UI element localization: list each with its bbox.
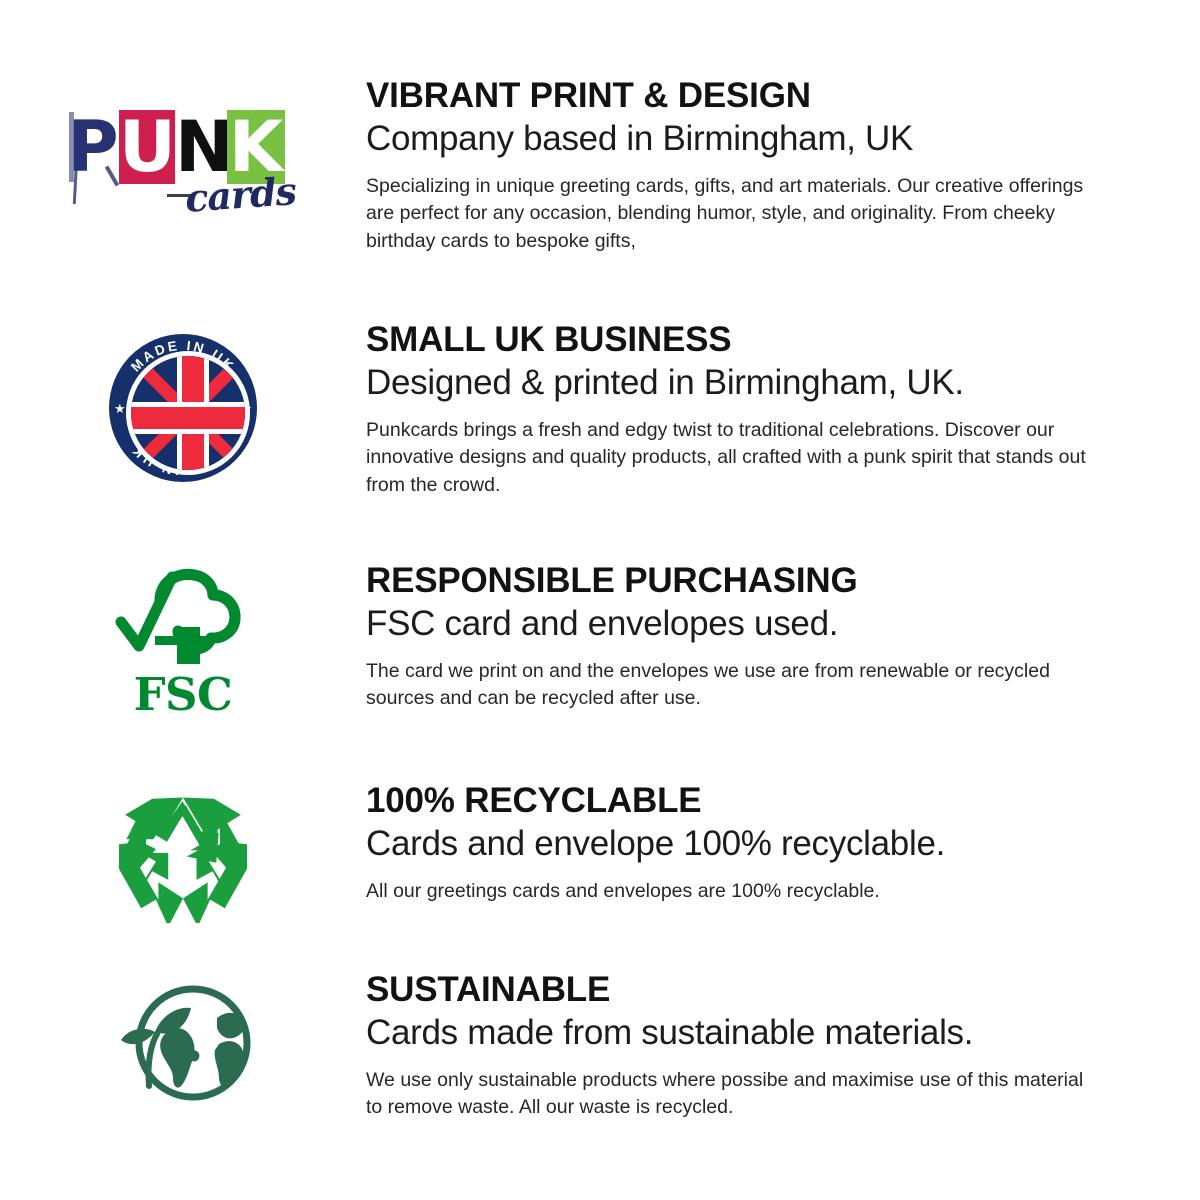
leaf-left (121, 1029, 155, 1044)
feature-subtitle: Cards made from sustainable materials. (366, 1013, 1104, 1052)
feature-text-cell: SMALL UK BUSINESS Designed & printed in … (366, 322, 1200, 500)
feature-body: The card we print on and the envelopes w… (366, 658, 1090, 714)
feature-subtitle: Cards and envelope 100% recyclable. (366, 824, 1104, 863)
punk-letter-p: P (67, 110, 119, 184)
feature-body: Punkcards brings a fresh and edgy twist … (366, 417, 1090, 501)
feature-body: We use only sustainable products where p… (366, 1067, 1090, 1123)
punkcards-logo: P U N K cards (67, 110, 299, 222)
leaf-right (155, 1008, 191, 1034)
punk-script-cards: cards (184, 168, 298, 221)
feature-title: RESPONSIBLE PURCHASING (366, 563, 1104, 599)
star-icon: ★ (114, 402, 126, 415)
globe-continent-asia (215, 1041, 244, 1087)
feature-subtitle: Designed & printed in Birmingham, UK. (366, 363, 1104, 402)
punkcards-features-page: P U N K cards VIBRANT PRINT & DESIGN Com… (0, 0, 1200, 1200)
feature-body: All our greetings cards and envelopes ar… (366, 878, 1090, 906)
union-jack-field (131, 356, 245, 470)
union-jack-horizontal-cross (131, 402, 245, 434)
feature-icon-cell: P U N K cards (0, 78, 366, 222)
feature-title: 100% RECYCLABLE (366, 783, 1104, 819)
feature-subtitle: Company based in Birmingham, UK (366, 119, 1104, 158)
recycling-symbol-icon (106, 795, 260, 923)
fsc-tree-check-icon (108, 565, 258, 677)
feature-title: SUSTAINABLE (366, 972, 1104, 1008)
feature-title: VIBRANT PRINT & DESIGN (366, 78, 1104, 114)
feature-row: 100% RECYCLABLE Cards and envelope 100% … (0, 783, 1200, 923)
feature-body: Specializing in unique greeting cards, g… (366, 173, 1090, 257)
union-jack-icon (126, 351, 250, 475)
made-in-uk-badge-icon: MADE IN UK MADE IN UK ★ ★ (109, 334, 257, 482)
fsc-certified-icon: FSC (108, 565, 258, 717)
feature-text-cell: RESPONSIBLE PURCHASING FSC card and enve… (366, 563, 1200, 713)
feature-subtitle: FSC card and envelopes used. (366, 604, 1104, 643)
globe-continent-detail (189, 1050, 199, 1061)
feature-icon-cell (0, 972, 366, 1104)
feature-row: SUSTAINABLE Cards made from sustainable … (0, 972, 1200, 1122)
feature-text-cell: SUSTAINABLE Cards made from sustainable … (366, 972, 1200, 1122)
feature-icon-cell: MADE IN UK MADE IN UK ★ ★ (0, 322, 366, 482)
feature-row: P U N K cards VIBRANT PRINT & DESIGN Com… (0, 78, 1200, 256)
feature-row: MADE IN UK MADE IN UK ★ ★ (0, 322, 1200, 500)
fsc-wordmark: FSC (108, 672, 258, 717)
feature-text-cell: VIBRANT PRINT & DESIGN Company based in … (366, 78, 1200, 256)
globe-continent-eurasia (217, 1013, 244, 1038)
feature-icon-cell: FSC (0, 563, 366, 717)
punk-letter-u: U (119, 110, 175, 184)
feature-row: FSC RESPONSIBLE PURCHASING FSC card and … (0, 563, 1200, 717)
sustainable-globe-icon (93, 982, 273, 1104)
feature-text-cell: 100% RECYCLABLE Cards and envelope 100% … (366, 783, 1200, 905)
feature-icon-cell (0, 783, 366, 923)
feature-title: SMALL UK BUSINESS (366, 322, 1104, 358)
